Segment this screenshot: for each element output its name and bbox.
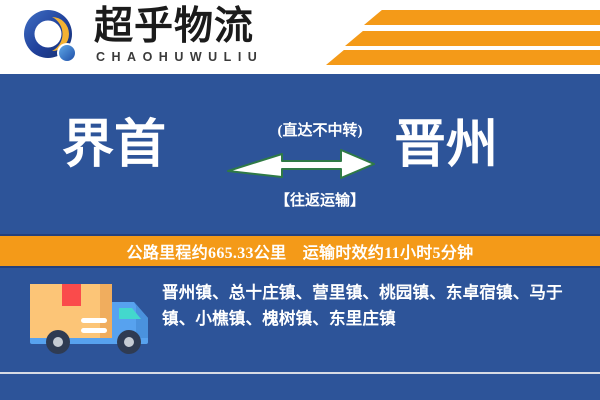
roundtrip-shipping-note: 【往返运输】 (250, 189, 390, 210)
logistics-route-banner: 超乎物流 CHAOHUWULIU 界首 (直达不中转) 【往返运输】 晋州 公路… (0, 0, 600, 400)
header-stripe-3 (344, 50, 600, 65)
route-info-bar: 公路里程约665.33公里 运输时效约11小时5分钟 (0, 234, 600, 268)
footer-divider (0, 372, 600, 374)
origin-city: 界首 (62, 116, 166, 176)
delivery-truck-icon (24, 280, 154, 358)
stripe-skew-1 (364, 10, 404, 25)
company-logo-icon (22, 8, 82, 66)
brand-name-en: CHAOHUWULIU (96, 50, 263, 64)
stripe-skew-3 (326, 50, 366, 65)
route-panel: 界首 (直达不中转) 【往返运输】 晋州 (0, 74, 600, 232)
header-stripe-2 (363, 31, 600, 46)
stripe-skew-2 (345, 31, 385, 46)
service-towns-list: 晋州镇、总十庄镇、营里镇、桃园镇、东卓宿镇、马于镇、小樵镇、槐树镇、东里庄镇 (162, 280, 582, 332)
direct-shipping-note: (直达不中转) (250, 119, 390, 140)
service-towns-panel: 晋州镇、总十庄镇、营里镇、桃园镇、东卓宿镇、马于镇、小樵镇、槐树镇、东里庄镇 (0, 268, 600, 400)
destination-city: 晋州 (394, 116, 498, 176)
header-stripe-1 (382, 10, 600, 25)
brand-name-cn: 超乎物流 (94, 5, 254, 49)
banner-header: 超乎物流 CHAOHUWULIU (0, 0, 600, 74)
route-info-text: 公路里程约665.33公里 运输时效约11小时5分钟 (127, 239, 474, 263)
double-headed-arrow-icon (226, 144, 376, 184)
